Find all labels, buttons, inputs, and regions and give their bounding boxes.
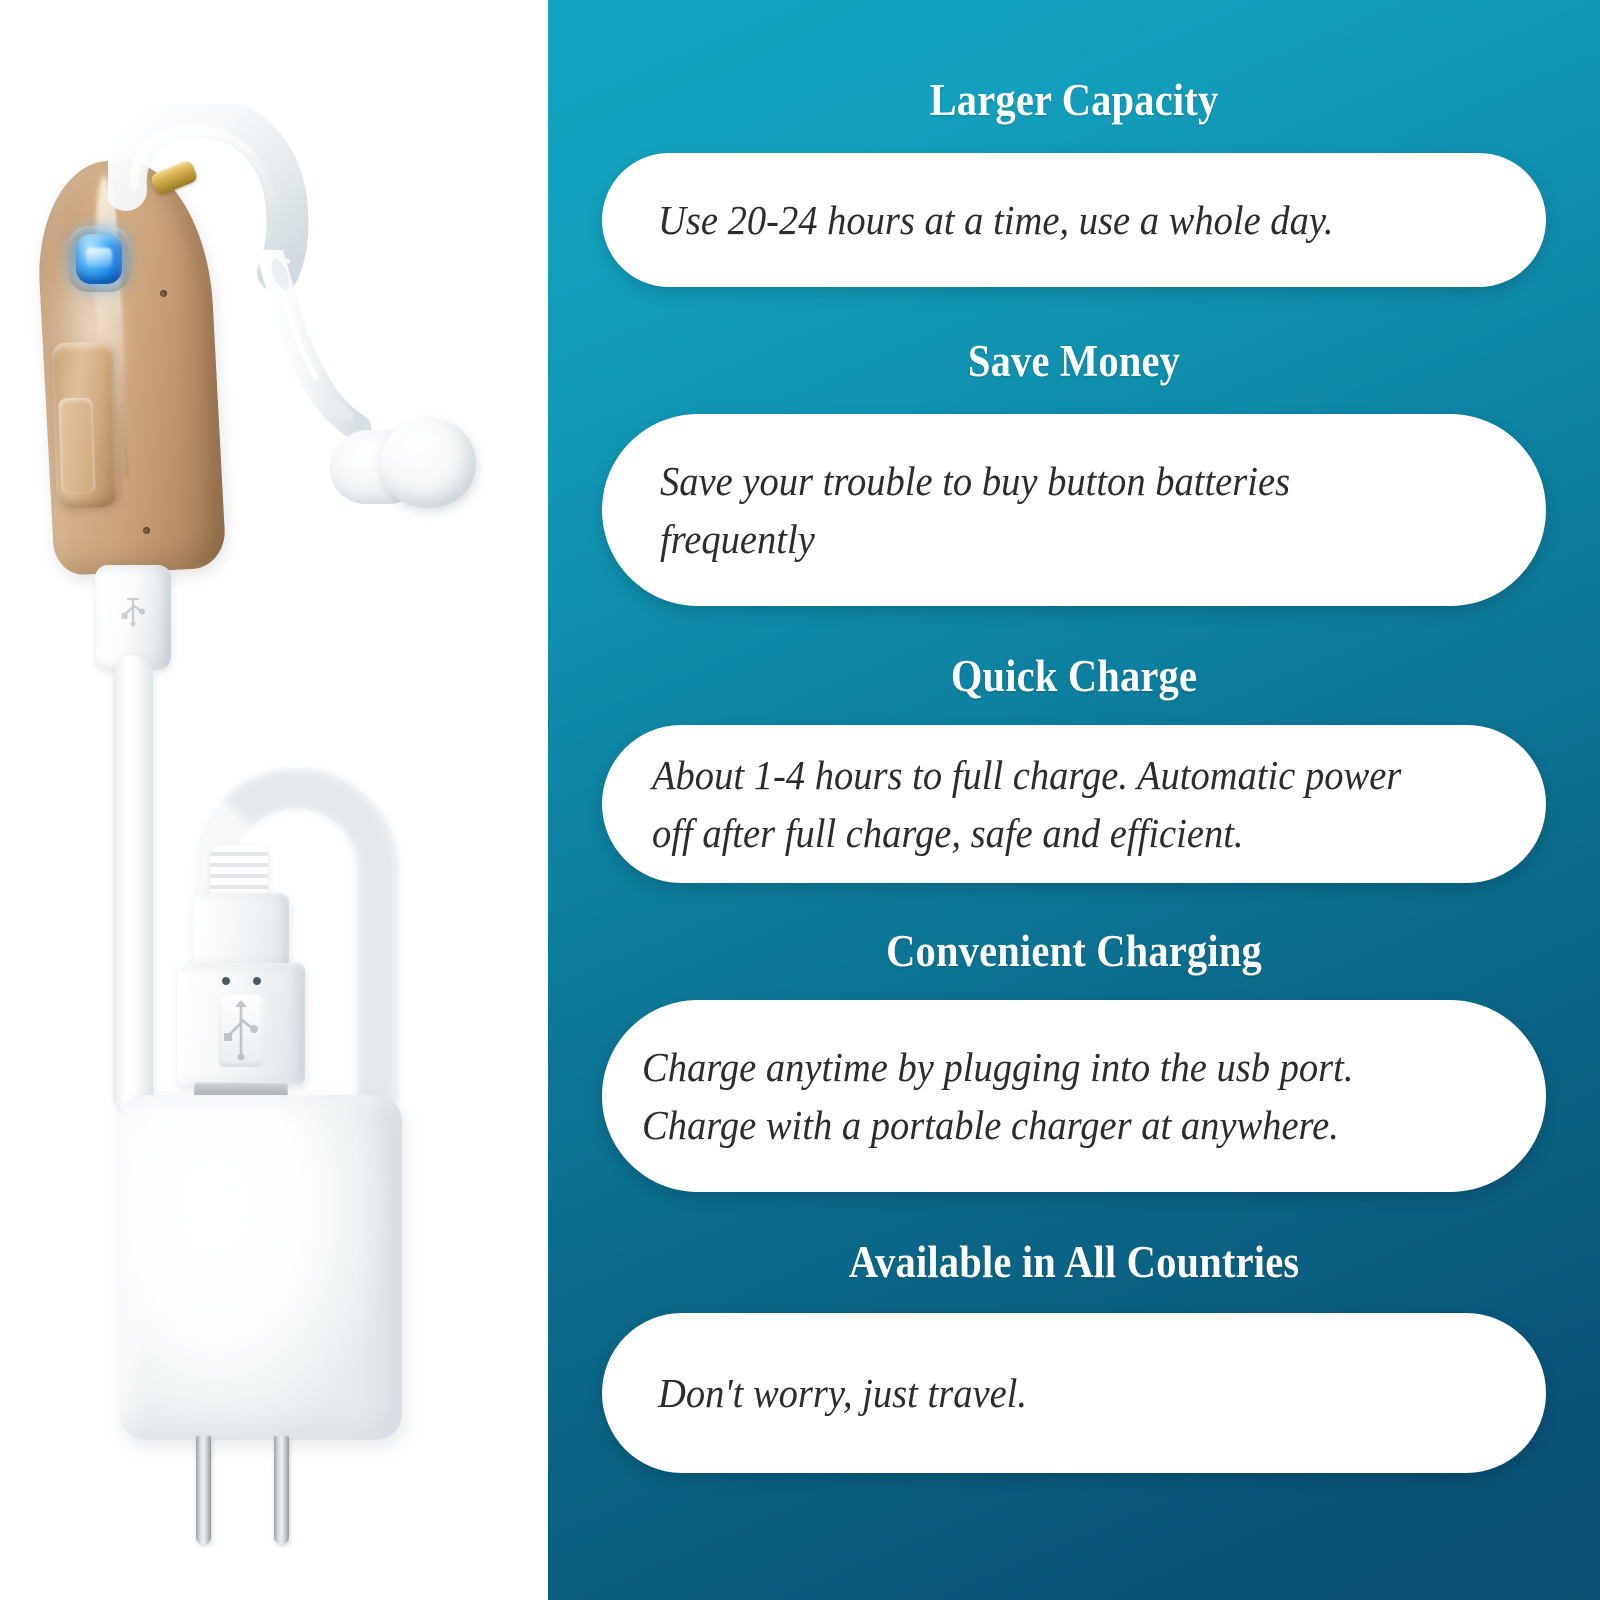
adapter-prong-right [274,1436,289,1544]
feature-heading: Convenient Charging [601,929,1548,974]
feature-larger-capacity: Larger Capacity Use 20-24 hours at a tim… [548,0,1600,287]
usb-a-logo-plate [218,995,264,1067]
feature-body-text: Charge anytime by plugging into the usb … [642,1038,1454,1154]
feature-heading: Available in All Countries [601,1240,1548,1285]
microphone-port-bottom [143,527,150,534]
usb-icon [218,995,264,1067]
ear-dome [380,418,476,508]
usb-icon [118,595,148,627]
adapter-prong-left [196,1436,211,1544]
feature-pill: Save your trouble to buy button batterie… [602,414,1546,606]
feature-pill: Charge anytime by plugging into the usb … [602,1000,1546,1192]
feature-pill: About 1-4 hours to full charge. Automati… [602,725,1546,883]
feature-list-panel: Larger Capacity Use 20-24 hours at a tim… [548,0,1600,1600]
feature-heading: Save Money [601,339,1548,384]
feature-body-text: Use 20-24 hours at a time, use a whole d… [658,191,1440,249]
feature-heading: Quick Charge [601,654,1548,699]
usb-a-shell [193,893,289,971]
feature-convenient-charging: Convenient Charging Charge anytime by pl… [548,883,1600,1192]
feature-available-in-all-countries: Available in All Countries Don't worry, … [548,1192,1600,1473]
feature-save-money: Save Money Save your trouble to buy butt… [548,287,1600,606]
sound-tube [250,250,380,450]
feature-body-text: About 1-4 hours to full charge. Automati… [652,746,1445,862]
usb-a-vent-left [222,977,230,985]
infographic-page: Larger Capacity Use 20-24 hours at a tim… [0,0,1600,1600]
feature-heading: Larger Capacity [601,78,1548,123]
feature-body-text: Save your trouble to buy button batterie… [660,452,1438,568]
feature-quick-charge: Quick Charge About 1-4 hours to full cha… [548,606,1600,883]
wall-adapter [120,1095,402,1440]
usb-cable-vertical [113,655,153,1115]
feature-pill: Don't worry, just travel. [602,1313,1546,1473]
usb-a-vent-right [253,977,261,985]
volume-rocker-face [58,397,95,494]
feature-body-text: Don't worry, just travel. [658,1364,1440,1422]
feature-pill: Use 20-24 hours at a time, use a whole d… [602,153,1546,287]
product-photo-panel [0,0,548,1600]
